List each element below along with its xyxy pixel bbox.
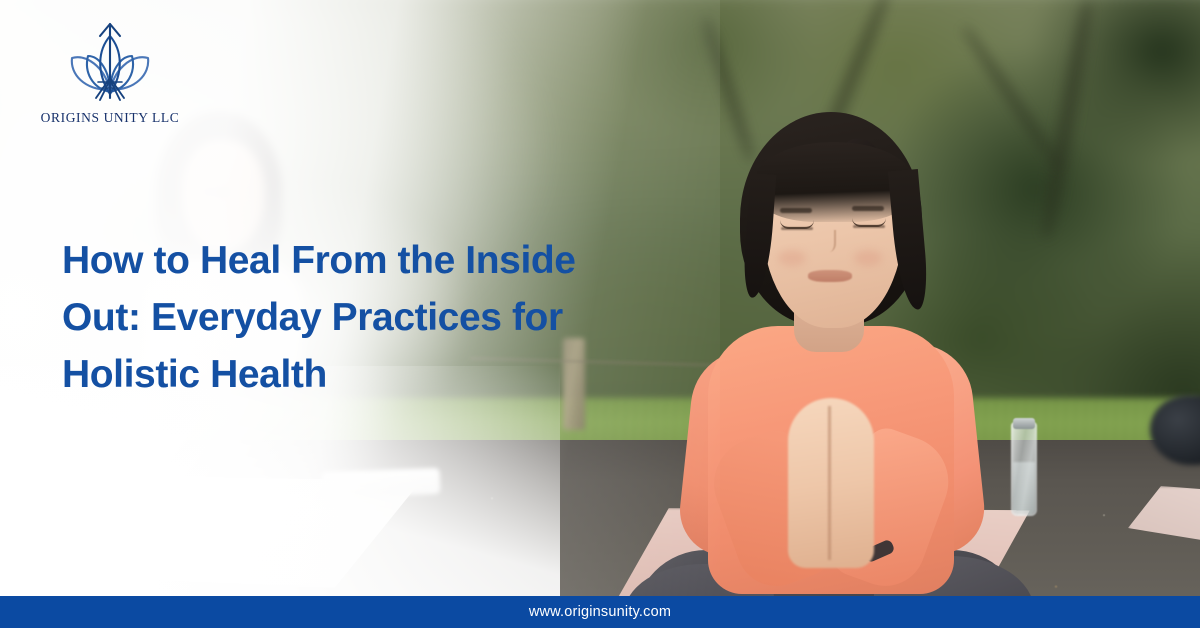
hand-seam xyxy=(828,406,831,560)
right-cheek xyxy=(854,250,882,266)
page-title: How to Heal From the Inside Out: Everyda… xyxy=(62,232,682,403)
water-bottle-liquid xyxy=(1013,462,1035,514)
headline-line-1: How to Heal From the Inside xyxy=(62,232,682,289)
water-bottle-cap xyxy=(1013,418,1035,429)
brand-name: ORIGINS UNITY LLC xyxy=(40,110,180,126)
right-lash-line xyxy=(853,225,885,228)
lips xyxy=(808,270,852,282)
headline-line-3: Holistic Health xyxy=(62,346,682,403)
nose xyxy=(820,230,836,252)
headline-line-2: Out: Everyday Practices for xyxy=(62,289,682,346)
left-lash-line xyxy=(781,227,813,230)
prayer-hands xyxy=(788,398,874,568)
website-url[interactable]: www.originsunity.com xyxy=(529,604,671,620)
brand-logo[interactable]: ORIGINS UNITY LLC xyxy=(40,18,180,128)
footer-bar: www.originsunity.com xyxy=(0,596,1200,628)
left-cheek xyxy=(778,250,806,266)
blog-banner: ORIGINS UNITY LLC How to Heal From the I… xyxy=(0,0,1200,628)
lotus-arrow-icon xyxy=(60,18,160,104)
